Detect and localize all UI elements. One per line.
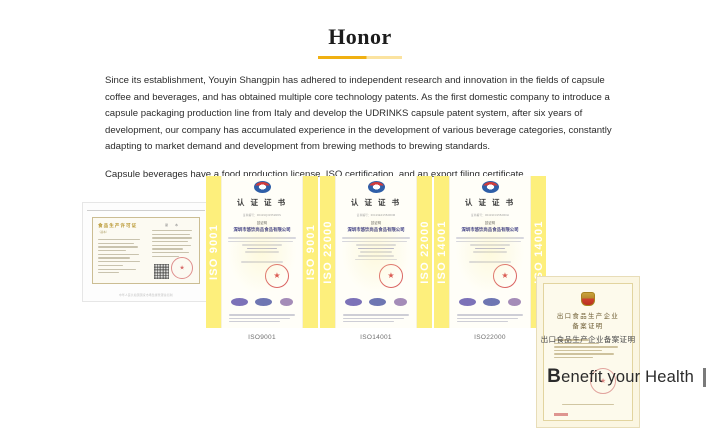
certificate-image-export-filing[interactable]: 出口食品生产企业 备案证明 bbox=[536, 276, 640, 428]
accreditation-mark-iaf-icon bbox=[369, 298, 386, 306]
license-red-seal-icon bbox=[171, 257, 193, 279]
accreditation-mark-cnas-icon bbox=[459, 298, 476, 306]
accreditation-mark-iaf-icon bbox=[483, 298, 500, 306]
certificate-heading: 认 证 证 书 bbox=[336, 197, 416, 208]
certificate-red-seal-icon bbox=[265, 264, 289, 288]
certificate-serial: 证书编号：00419Q31552R0S bbox=[222, 213, 302, 217]
license-doc-subtitle: （副本） bbox=[98, 230, 144, 234]
export-title-line-1: 出口食品生产企业 bbox=[544, 312, 632, 322]
export-code-mark bbox=[554, 413, 568, 416]
certificate-image-iso22000[interactable]: ISO 14001 认 证 证 书 证书编号：00419F31552R0H 兹证… bbox=[434, 176, 546, 328]
accreditation-mark-iaf-icon bbox=[255, 298, 272, 306]
license-left-column: 食品生产许可证 （副本） bbox=[93, 218, 148, 283]
certificate-band-left: ISO 22000 bbox=[320, 176, 335, 328]
certificate-band-left: ISO 14001 bbox=[434, 176, 449, 328]
certificate-image-iso9001[interactable]: ISO 9001 认 证 证 书 证书编号：00419Q31552R0S 兹证明… bbox=[206, 176, 318, 328]
certificate-heading: 认 证 证 书 bbox=[222, 197, 302, 208]
certificate-band-right: ISO 22000 bbox=[417, 176, 432, 328]
certificate-band-left: ISO 9001 bbox=[206, 176, 221, 328]
certificate-footnote bbox=[229, 314, 295, 324]
band-label-right: ISO 22000 bbox=[419, 220, 431, 283]
caption-iso22000: ISO22000 bbox=[434, 334, 546, 341]
honor-description: Since its establishment, Youyin Shangpin… bbox=[105, 73, 618, 183]
certificate-footnote bbox=[457, 314, 523, 324]
band-label-right: ISO 9001 bbox=[305, 224, 317, 280]
accreditation-mark-extra-icon bbox=[280, 298, 293, 306]
page-title: Honor bbox=[0, 26, 720, 48]
license-doc-title: 食品生产许可证 bbox=[98, 223, 144, 229]
accreditation-mark-cnas-icon bbox=[231, 298, 248, 306]
certification-body-logo-icon bbox=[254, 181, 271, 193]
certification-body-logo-icon bbox=[482, 181, 499, 193]
license-top-rule bbox=[87, 210, 205, 211]
certificate-image-iso14001[interactable]: ISO 22000 认 证 证 书 证书编号：00419E31552R0M 兹证… bbox=[320, 176, 432, 328]
title-underline-rule bbox=[318, 56, 402, 59]
certificate-subheading: 兹证明 bbox=[222, 220, 302, 225]
license-right-fields bbox=[152, 230, 194, 257]
certificate-serial: 证书编号：00419F31552R0H bbox=[450, 213, 530, 217]
certificate-gallery: 食品生产许可证 （副本） 副 本 bbox=[0, 176, 720, 334]
certificate-company-name: 深圳市悠饮尚品食品有限公司 bbox=[450, 227, 530, 233]
certificate-captions: ISO9001 ISO14001 ISO22000 出口食品生产企业备案证明 bbox=[0, 334, 720, 348]
certificate-red-seal-icon bbox=[493, 264, 517, 288]
band-label-left: ISO 9001 bbox=[208, 224, 220, 280]
export-inner-border: 出口食品生产企业 备案证明 bbox=[543, 283, 633, 421]
national-emblem-icon bbox=[581, 292, 595, 306]
accreditation-mark-cnas-icon bbox=[345, 298, 362, 306]
export-footer-lines bbox=[562, 404, 614, 407]
license-qr-code bbox=[154, 264, 169, 279]
license-paper: 食品生产许可证 （副本） 副 本 bbox=[92, 217, 200, 284]
certificate-page: 认 证 证 书 证书编号：00419F31552R0H 兹证明 深圳市悠饮尚品食… bbox=[449, 176, 531, 328]
slogan-initial: B bbox=[547, 366, 561, 387]
band-label-left: ISO 14001 bbox=[436, 220, 448, 283]
certificate-band-right: ISO 9001 bbox=[303, 176, 318, 328]
certificate-image-food-license[interactable]: 食品生产许可证 （副本） 副 本 bbox=[82, 202, 210, 302]
certificate-body-lines bbox=[228, 237, 296, 263]
accreditation-marks bbox=[455, 298, 525, 306]
export-title: 出口食品生产企业 备案证明 bbox=[544, 312, 632, 331]
caption-iso14001: ISO14001 bbox=[320, 334, 432, 341]
certificate-heading: 认 证 证 书 bbox=[450, 197, 530, 208]
certificate-company-name: 深圳市悠饮尚品食品有限公司 bbox=[336, 227, 416, 233]
certificate-company-name: 深圳市悠饮尚品食品有限公司 bbox=[222, 227, 302, 233]
certificate-page: 认 证 证 书 证书编号：00419Q31552R0S 兹证明 深圳市悠饮尚品食… bbox=[221, 176, 303, 328]
caption-export-filing: 出口食品生产企业备案证明 bbox=[536, 334, 640, 345]
certificate-body-lines bbox=[456, 237, 524, 263]
license-right-column: 副 本 bbox=[148, 218, 199, 283]
paragraph-one: Since its establishment, Youyin Shangpin… bbox=[105, 73, 618, 156]
export-title-line-2: 备案证明 bbox=[544, 322, 632, 332]
license-footer-note: 中华人民共和国国家市场监督管理总局制 bbox=[83, 293, 209, 297]
caption-iso9001: ISO9001 bbox=[206, 334, 318, 341]
accreditation-marks bbox=[227, 298, 297, 306]
license-right-heading: 副 本 bbox=[152, 223, 194, 227]
certificate-subheading: 兹证明 bbox=[336, 220, 416, 225]
certificate-serial: 证书编号：00419E31552R0M bbox=[336, 213, 416, 217]
license-left-fields bbox=[98, 239, 144, 273]
accreditation-mark-extra-icon bbox=[394, 298, 407, 306]
certificate-red-seal-icon bbox=[379, 264, 403, 288]
page-header: Honor bbox=[0, 0, 720, 59]
band-label-left: ISO 22000 bbox=[322, 220, 334, 283]
band-label-right: ISO 14001 bbox=[533, 220, 545, 283]
certificate-page: 认 证 证 书 证书编号：00419E31552R0M 兹证明 深圳市悠饮尚品食… bbox=[335, 176, 417, 328]
certificate-footnote bbox=[343, 314, 409, 324]
certificate-subheading: 兹证明 bbox=[450, 220, 530, 225]
footer-accent-bar bbox=[703, 368, 706, 387]
accreditation-mark-extra-icon bbox=[508, 298, 521, 306]
accreditation-marks bbox=[341, 298, 411, 306]
certification-body-logo-icon bbox=[368, 181, 385, 193]
slogan-rest: enefit your Health bbox=[561, 368, 694, 386]
certificate-body-lines bbox=[342, 237, 410, 260]
brand-slogan: Benefit your Health bbox=[547, 366, 694, 388]
footer-slogan-block: Benefit your Health bbox=[547, 366, 706, 388]
